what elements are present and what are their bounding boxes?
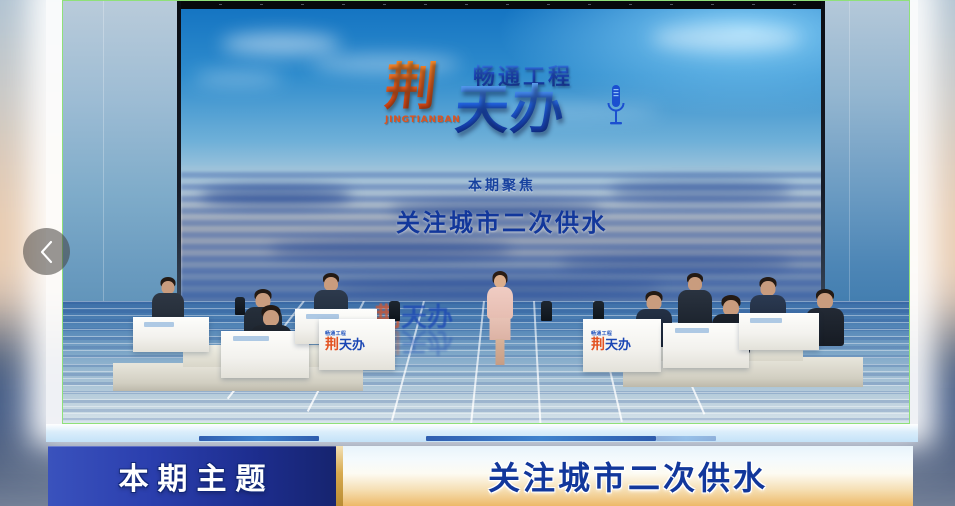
strip-accent-2	[426, 436, 656, 441]
panelist-head	[817, 293, 833, 309]
desk-right-back	[739, 313, 819, 350]
panelist-head	[324, 277, 338, 291]
banner-topic-box: 关注城市二次供水	[343, 446, 913, 506]
desk-logo: 畅通工程 荆天办	[325, 328, 365, 352]
host-skirt	[490, 318, 511, 340]
stage-monitor-4	[235, 297, 245, 315]
desk-logo-blue: 天办	[605, 337, 631, 352]
led-wall-bezel	[181, 1, 821, 9]
wall-seam-right	[821, 1, 825, 319]
cloud-1	[221, 33, 341, 55]
floor-logo-blue-reflection: 天办	[401, 327, 453, 357]
stage-monitor-1	[389, 301, 400, 321]
logo-pinyin: JINGTIANBAN	[385, 115, 461, 125]
panelist-head	[263, 310, 279, 326]
program-host	[483, 271, 517, 365]
host-legs	[496, 339, 505, 365]
chevron-left-icon	[37, 239, 57, 265]
panelist-head	[761, 281, 776, 296]
banner-topic-label: 关注城市二次供水	[488, 453, 768, 499]
host-jacket	[487, 287, 513, 319]
desk-logo: 畅通工程 荆天办	[591, 328, 631, 352]
video-player: 荆 JINGTIANBAN 畅通工程 天办	[0, 0, 955, 506]
cloud-4	[651, 25, 801, 51]
cloud-3	[193, 71, 283, 85]
panelist-head	[647, 295, 662, 310]
prev-slide-button[interactable]	[23, 228, 70, 275]
panelist-body	[678, 290, 712, 326]
microphone-icon	[607, 85, 625, 135]
desk-right-front-branded: 畅通工程 荆天办	[583, 319, 661, 372]
led-focus-topic: 关注城市二次供水	[181, 203, 823, 238]
desk-logo-blue: 天办	[339, 337, 365, 352]
strip-accent-1	[199, 436, 319, 441]
topic-banner: 本期主题 关注城市二次供水	[0, 424, 955, 506]
banner-top-strip	[46, 424, 918, 442]
desk-nameplate	[233, 336, 268, 341]
banner-gold-divider	[336, 446, 343, 506]
led-wall-screen: 荆 JINGTIANBAN 畅通工程 天办	[181, 7, 823, 313]
desk-nameplate	[675, 328, 709, 333]
panelist-right-b	[677, 273, 713, 325]
desk-nameplate	[750, 318, 782, 323]
stage-monitor-2	[541, 301, 552, 321]
video-surface[interactable]: 荆 JINGTIANBAN 畅通工程 天办	[62, 0, 910, 424]
desk-left-back	[133, 317, 209, 352]
panelist-head	[688, 277, 702, 291]
banner-theme-box: 本期主题	[48, 446, 336, 506]
desk-left-front-branded: 畅通工程 荆天办	[319, 319, 395, 370]
stage-monitor-3	[593, 301, 604, 321]
desk-logo-red: 荆	[591, 336, 605, 352]
led-focus-label: 本期聚焦	[181, 175, 823, 195]
studio-wall-right	[819, 1, 909, 331]
video-content: 荆 JINGTIANBAN 畅通工程 天办	[63, 1, 909, 423]
wave-blob-5	[561, 253, 791, 273]
strip-accent-3	[656, 436, 716, 441]
logo-secondary-char: 天办	[453, 83, 567, 137]
logo-primary-char: 荆	[382, 61, 437, 113]
wave-blob-4	[271, 239, 511, 261]
desk-right-mid	[663, 323, 749, 368]
banner-theme-label: 本期主题	[110, 454, 275, 498]
desk-logo-red: 荆	[325, 336, 339, 352]
program-logo: 荆 JINGTIANBAN 畅通工程 天办	[377, 59, 627, 155]
desk-nameplate	[144, 322, 174, 327]
wall-seam-left	[177, 1, 181, 319]
